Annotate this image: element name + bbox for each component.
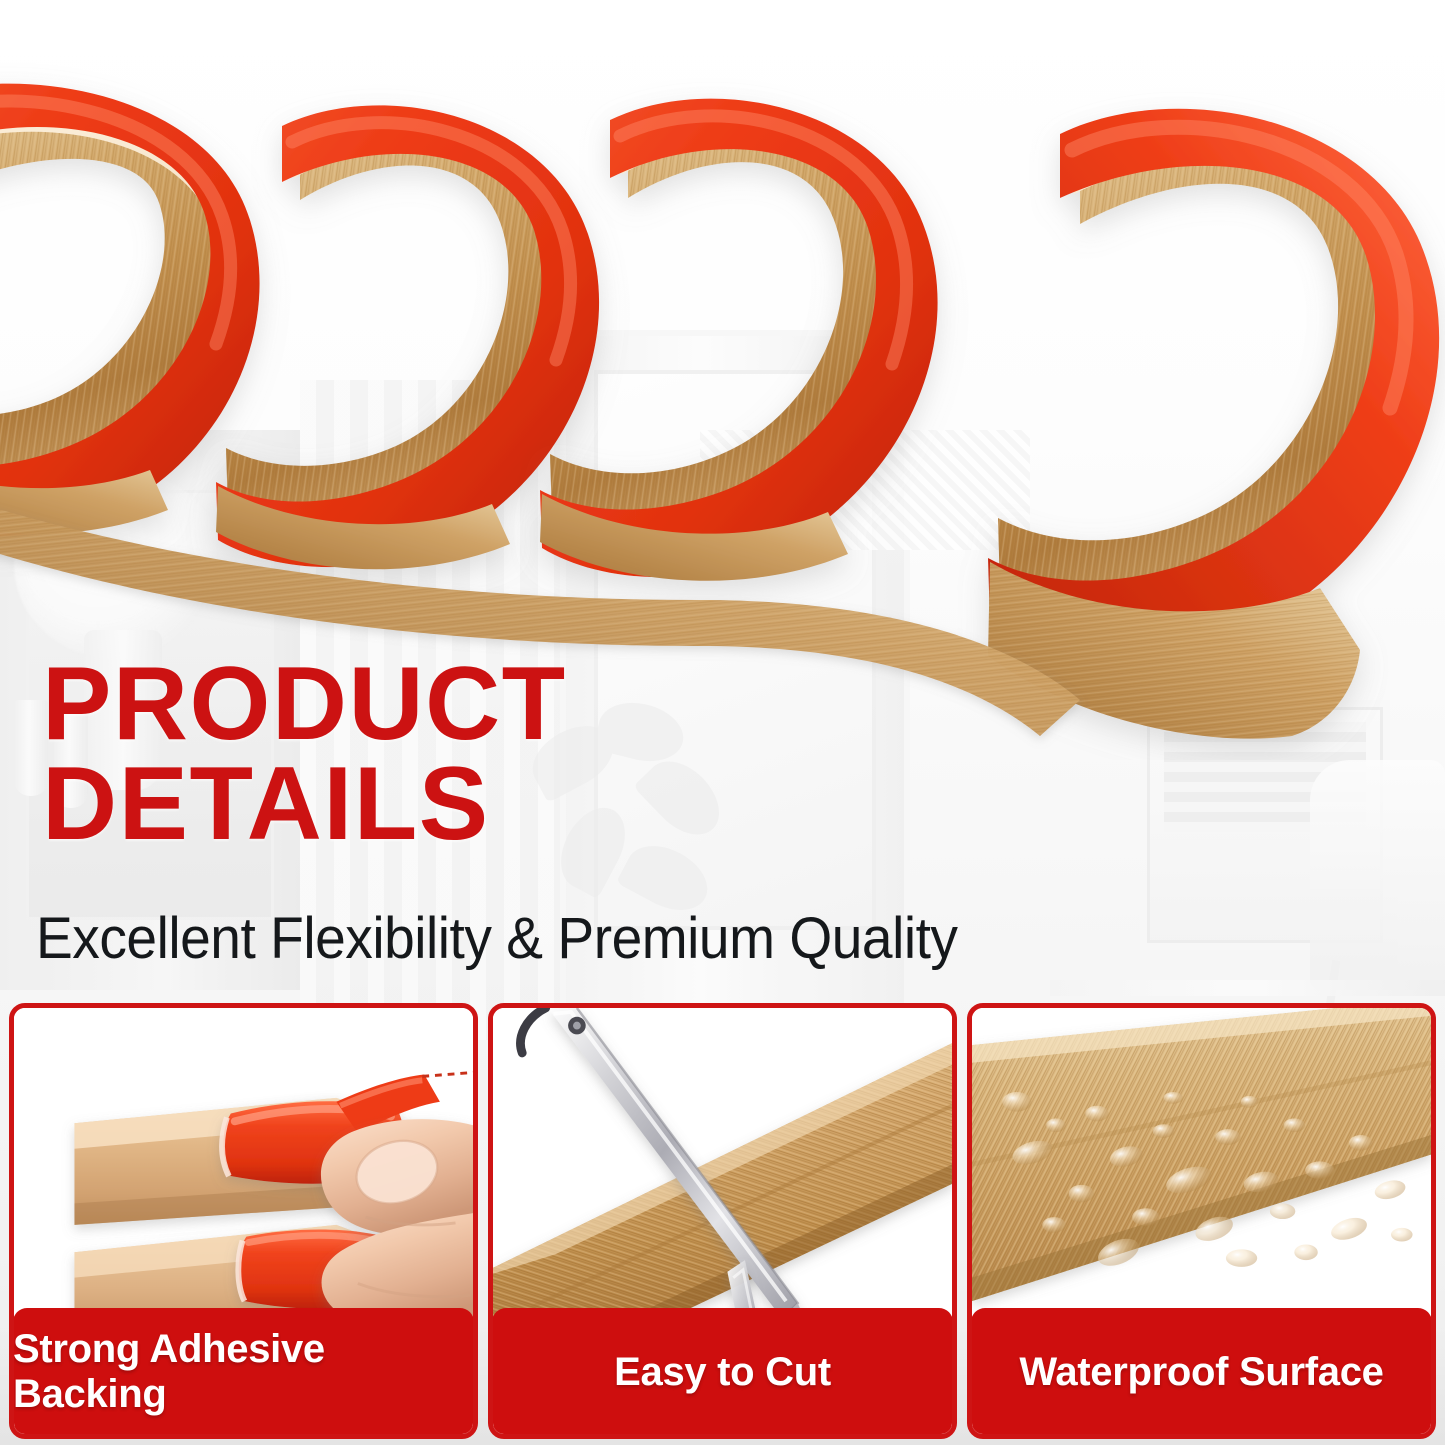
feature-panel-row: Strong Adhesive Backing bbox=[9, 1003, 1436, 1439]
feature-caption-waterproof: Waterproof Surface bbox=[971, 1308, 1432, 1436]
page-title: PRODUCT DETAILS bbox=[42, 655, 782, 855]
feature-caption-adhesive: Strong Adhesive Backing bbox=[13, 1308, 474, 1436]
feature-card-adhesive[interactable]: Strong Adhesive Backing bbox=[9, 1003, 478, 1439]
title-line-1: PRODUCT bbox=[42, 655, 782, 755]
background-chair bbox=[1310, 760, 1445, 990]
feature-card-waterproof[interactable]: Waterproof Surface bbox=[967, 1003, 1436, 1439]
feature-caption-cut: Easy to Cut bbox=[492, 1308, 953, 1436]
background-table bbox=[1050, 980, 1445, 996]
title-line-2: DETAILS bbox=[42, 755, 782, 855]
feature-card-cut[interactable]: Easy to Cut bbox=[488, 1003, 957, 1439]
subtitle: Excellent Flexibility & Premium Quality bbox=[36, 905, 958, 972]
infographic-canvas: PRODUCT DETAILS Excellent Flexibility & … bbox=[0, 0, 1445, 1445]
